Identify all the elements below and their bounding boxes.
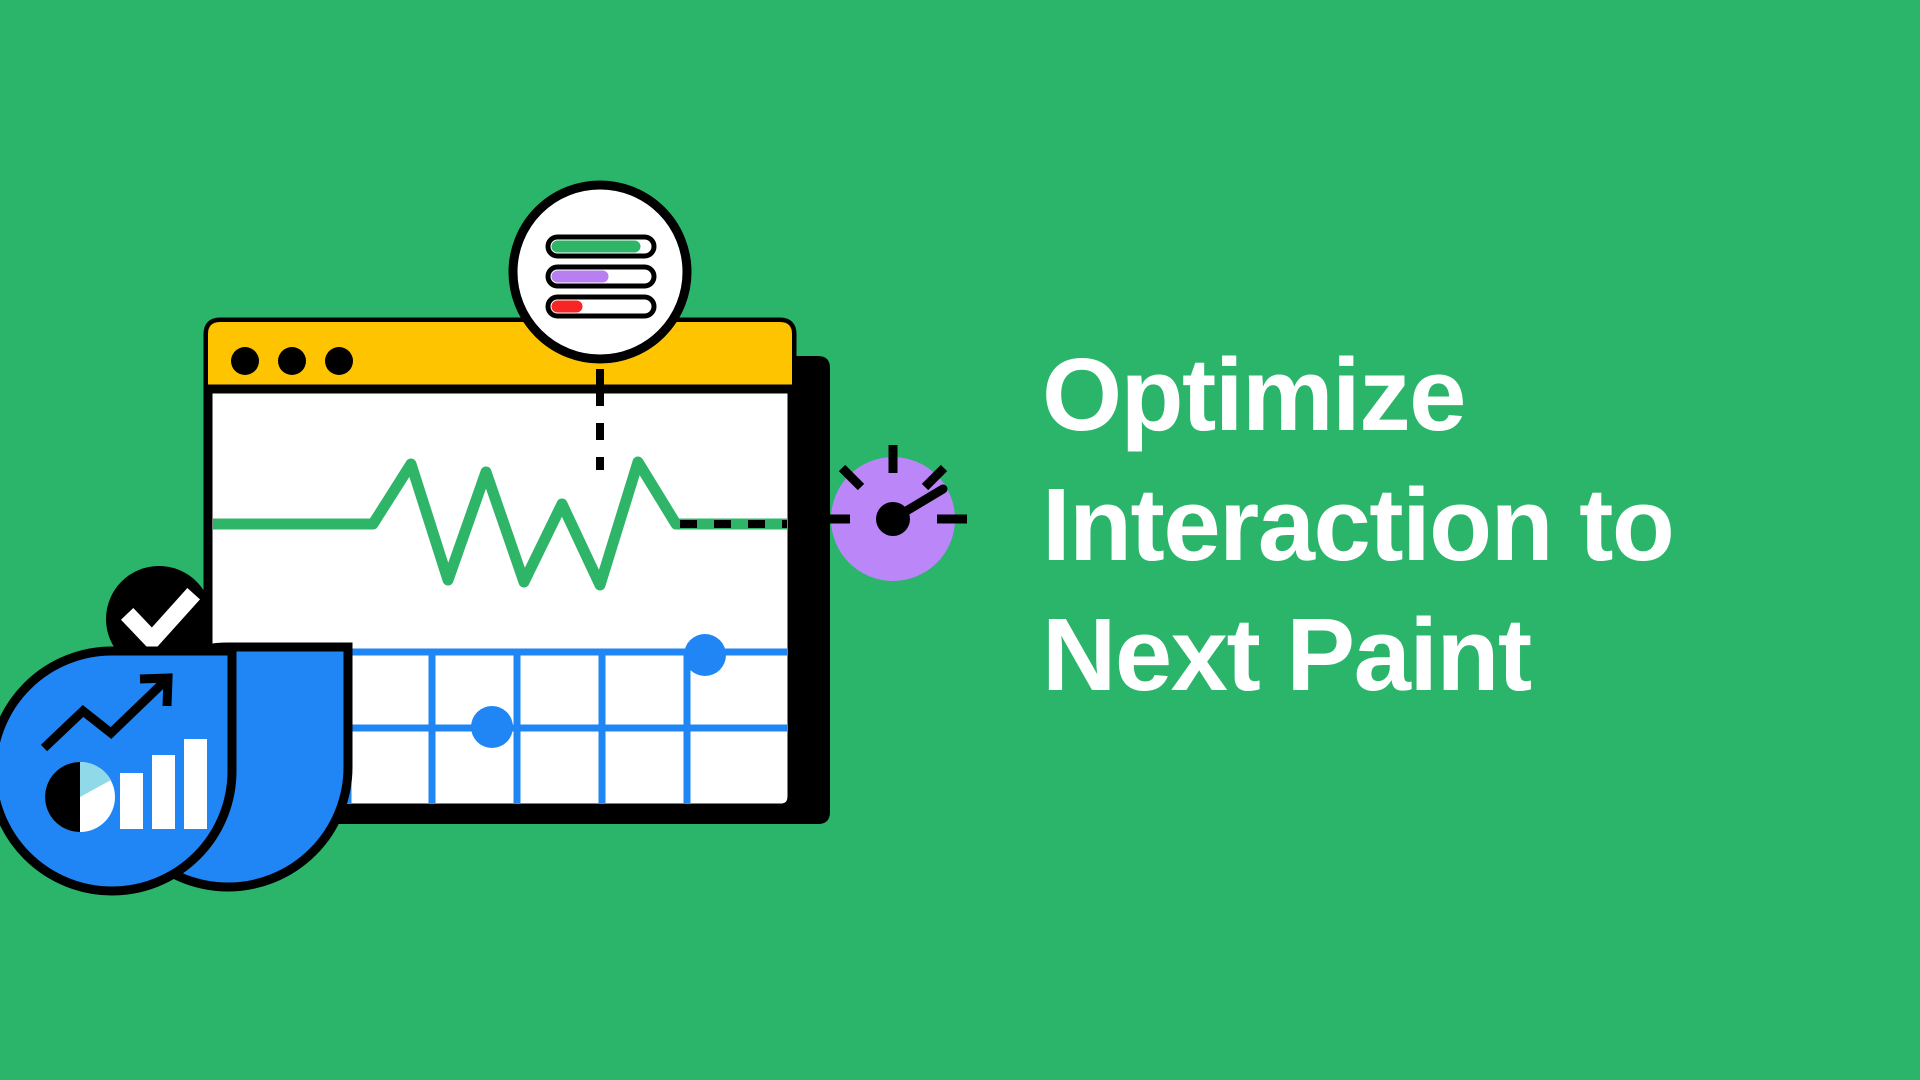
progress-bar-poor bbox=[548, 297, 654, 316]
headline-line-1: Optimize bbox=[1042, 330, 1882, 460]
window-dot-2 bbox=[278, 347, 306, 375]
headline-line-2: Interaction to bbox=[1042, 460, 1882, 590]
pie-chart-icon bbox=[45, 762, 115, 832]
gauge-hub bbox=[876, 502, 910, 536]
window-dot-1 bbox=[231, 347, 259, 375]
poster-canvas: Optimize Interaction to Next Paint bbox=[0, 0, 1920, 1080]
progress-bar-good bbox=[548, 237, 654, 256]
window-dot-3 bbox=[325, 347, 353, 375]
progress-bar-needs-improvement bbox=[548, 267, 654, 286]
headline: Optimize Interaction to Next Paint bbox=[1042, 330, 1882, 720]
analytics-badge[interactable] bbox=[0, 647, 348, 891]
headline-line-3: Next Paint bbox=[1042, 590, 1882, 720]
browser-titlebar bbox=[208, 322, 792, 389]
grid-point-1 bbox=[471, 706, 513, 748]
speedometer-gauge[interactable] bbox=[819, 445, 967, 581]
grid-point-2 bbox=[684, 634, 726, 676]
